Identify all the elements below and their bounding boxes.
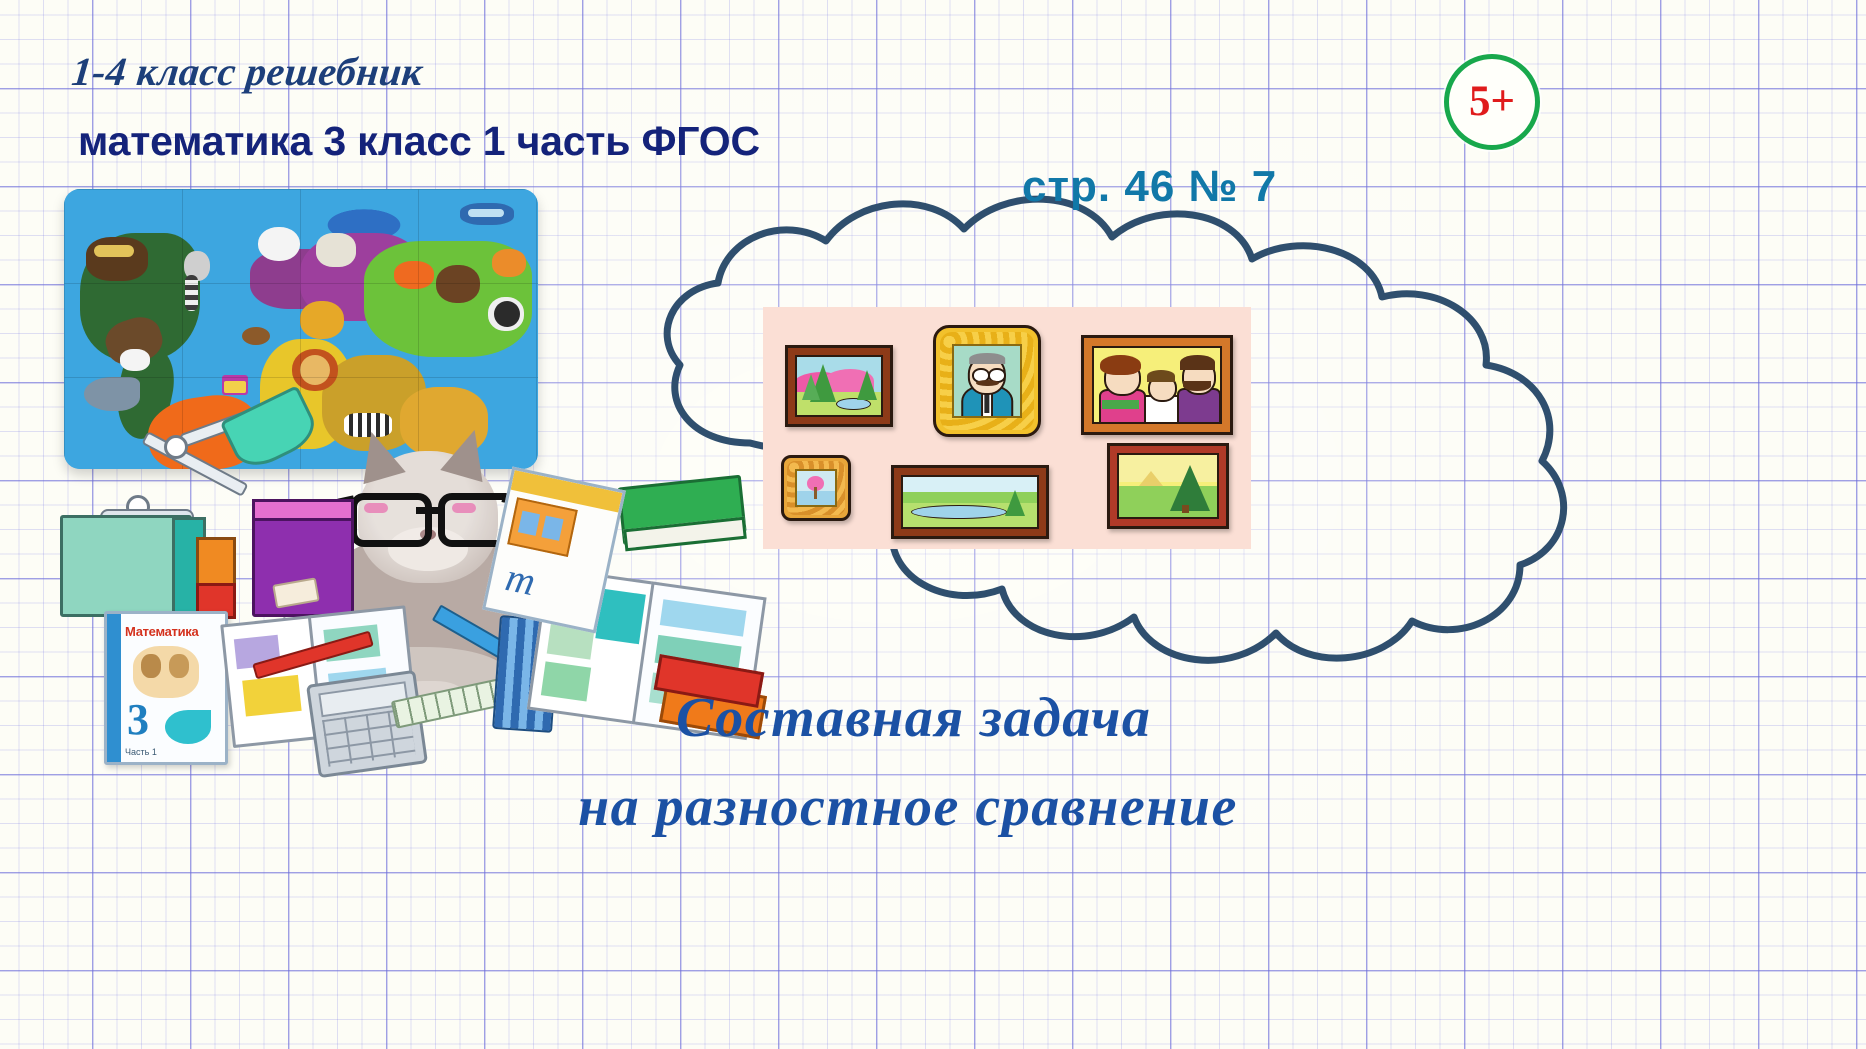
slide-canvas: Математика 3 Часть 1 bbox=[0, 0, 1866, 1049]
frame-wide-green-field bbox=[891, 465, 1049, 539]
textbook-title: Математика bbox=[125, 624, 221, 639]
school-supplies-collage: Математика 3 Часть 1 bbox=[56, 185, 756, 760]
book-pink-edge bbox=[252, 499, 354, 521]
textbook-grade: 3 bbox=[127, 698, 149, 742]
frame-portrait-man-glasses bbox=[933, 325, 1041, 437]
page-reference: стр. 46 № 7 bbox=[1022, 162, 1277, 212]
textbook-part: Часть 1 bbox=[125, 747, 157, 757]
age-rating-badge: 5+ bbox=[1444, 54, 1540, 150]
faint-watermark-text bbox=[1160, 14, 1580, 44]
subtitle-text: математика 3 класс 1 часть ФГОС bbox=[78, 118, 760, 165]
age-rating-label: 5+ bbox=[1469, 80, 1515, 123]
frame-landscape-pink-trees bbox=[785, 345, 893, 427]
script-heading: 1-4 класс решебник bbox=[70, 48, 426, 95]
textbook-math-cover: Математика 3 Часть 1 bbox=[104, 611, 228, 765]
picture-frames-illustration bbox=[763, 307, 1251, 549]
lesson-title-line1: Составная задача bbox=[676, 686, 1151, 750]
frame-family-portrait bbox=[1081, 335, 1233, 435]
cat-glasses bbox=[350, 489, 508, 535]
frame-small-pink-tree bbox=[781, 455, 851, 521]
lesson-title-line2: на разностное сравнение bbox=[578, 775, 1238, 839]
frame-mountain-fir bbox=[1107, 443, 1229, 529]
